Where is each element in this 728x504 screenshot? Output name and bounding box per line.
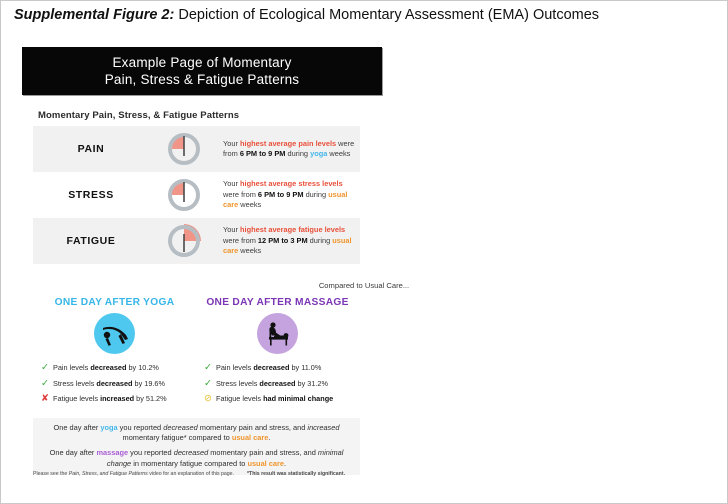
figure-caption-text: Depiction of Ecological Momentary Assess… <box>174 7 599 23</box>
pattern-row-stress: STRESS Your highest average stress level… <box>33 172 360 218</box>
column-title-massage: ONE DAY AFTER MASSAGE <box>196 297 359 308</box>
outcome-columns: ONE DAY AFTER YOGA ✓Pain levels decrease… <box>33 297 360 410</box>
figure-caption-label: Supplemental Figure 2: <box>14 7 174 23</box>
footer-video-title: Pain, Stress, and Fatigue Patterns <box>69 471 148 477</box>
sum-a: One day after <box>50 448 97 457</box>
dial-wrap-pain <box>149 129 219 169</box>
footer-video-note: Please see the Pain, Stress, and Fatigue… <box>33 470 234 478</box>
no-change-icon: ⊘ <box>204 394 216 403</box>
sum-e: . <box>284 459 286 468</box>
list-item-text: Fatigue levels had minimal change <box>216 394 333 404</box>
msg-arm: yoga <box>310 149 327 158</box>
item-bold: decreased <box>90 363 126 372</box>
yoga-pose-glyph <box>99 318 131 350</box>
msg-post: weeks <box>238 246 261 255</box>
msg-pre: Your <box>223 179 240 188</box>
banner-line-2: Pain, Stress & Fatigue Patterns <box>105 71 300 88</box>
pattern-label-stress: STRESS <box>33 189 149 201</box>
sum-uc: usual care <box>232 433 269 442</box>
item-post: by 19.6% <box>133 379 165 388</box>
msg-mid: were from <box>223 236 258 245</box>
compared-to-label: Compared to Usual Care... <box>0 281 728 290</box>
list-item: ✓Pain levels decreased by 11.0% <box>204 363 359 373</box>
msg-during: during <box>304 190 329 199</box>
cross-icon: ✘ <box>41 394 53 403</box>
msg-time: 6 PM to 9 PM <box>258 190 304 199</box>
dial-wrap-fatigue <box>149 221 219 261</box>
pattern-rows: PAIN Your highest average pain levels we… <box>33 126 360 264</box>
sum-c: momentary pain and stress, and <box>208 448 318 457</box>
item-post: by 10.2% <box>126 363 158 372</box>
check-icon: ✓ <box>41 363 53 372</box>
massage-table-glyph <box>262 318 294 350</box>
section-heading: Momentary Pain, Stress, & Fatigue Patter… <box>38 110 239 121</box>
item-post: by 31.2% <box>296 379 328 388</box>
list-item: ✓Pain levels decreased by 10.2% <box>41 363 196 373</box>
list-item-text: Stress levels decreased by 31.2% <box>216 379 328 389</box>
msg-post: weeks <box>238 200 261 209</box>
list-item: ✓Stress levels decreased by 19.6% <box>41 379 196 389</box>
footer-a: Please see the <box>33 471 69 477</box>
pattern-row-pain: PAIN Your highest average pain levels we… <box>33 126 360 172</box>
pattern-row-fatigue: FATIGUE Your highest average fatigue lev… <box>33 218 360 264</box>
pattern-message-fatigue: Your highest average fatigue levels were… <box>219 225 360 256</box>
sum-b: you reported <box>118 423 164 432</box>
pattern-label-pain: PAIN <box>33 143 149 155</box>
list-item-text: Pain levels decreased by 11.0% <box>216 363 321 373</box>
sum-e: . <box>268 433 270 442</box>
item-pre: Stress levels <box>216 379 259 388</box>
massage-table-icon <box>257 313 298 354</box>
banner-line-1: Example Page of Momentary <box>112 54 291 71</box>
check-icon: ✓ <box>41 379 53 388</box>
footer-b: video for an explanation of this page. <box>148 471 234 477</box>
summary-paragraph-yoga: One day after yoga you reported decrease… <box>41 423 352 443</box>
sum-arm-yoga: yoga <box>100 423 117 432</box>
list-item-text: Stress levels decreased by 19.6% <box>53 379 165 389</box>
item-post: by 11.0% <box>289 363 321 372</box>
msg-mid: were from <box>223 190 258 199</box>
sum-a: One day after <box>54 423 101 432</box>
item-bold: decreased <box>259 379 295 388</box>
pattern-message-stress: Your highest average stress levels were … <box>219 179 360 210</box>
msg-during: during <box>308 236 333 245</box>
column-title-yoga: ONE DAY AFTER YOGA <box>33 297 196 308</box>
list-item-text: Fatigue levels increased by 51.2% <box>53 394 167 404</box>
item-pre: Pain levels <box>216 363 253 372</box>
summary-box: One day after yoga you reported decrease… <box>33 418 360 475</box>
item-pre: Stress levels <box>53 379 96 388</box>
clock-dial-icon <box>164 221 204 261</box>
item-bold: decreased <box>96 379 132 388</box>
sum-arm-massage: massage <box>96 448 128 457</box>
footer-significance-note: *This result was statistically significa… <box>247 470 345 478</box>
yoga-pose-icon <box>94 313 135 354</box>
msg-highlight: highest average pain levels <box>240 139 336 148</box>
check-icon: ✓ <box>204 363 216 372</box>
msg-post: weeks <box>327 149 350 158</box>
item-pre: Fatigue levels <box>53 394 100 403</box>
outcome-list-yoga: ✓Pain levels decreased by 10.2% ✓Stress … <box>33 363 196 404</box>
msg-highlight: highest average fatigue levels <box>240 225 345 234</box>
item-bold: decreased <box>253 363 289 372</box>
list-item-text: Pain levels decreased by 10.2% <box>53 363 159 373</box>
figure-caption: Supplemental Figure 2: Depiction of Ecol… <box>14 6 720 24</box>
sum-uc: usual care <box>247 459 284 468</box>
msg-during: during <box>285 149 310 158</box>
item-pre: Pain levels <box>53 363 90 372</box>
msg-time: 6 PM to 9 PM <box>240 149 286 158</box>
clock-dial-icon <box>164 129 204 169</box>
item-post: by 51.2% <box>134 394 166 403</box>
sum-i1: decreased <box>163 423 198 432</box>
list-item: ✘Fatigue levels increased by 51.2% <box>41 394 196 404</box>
sum-d: momentary fatigue* compared to <box>123 433 232 442</box>
pattern-label-fatigue: FATIGUE <box>33 235 149 247</box>
sum-c: momentary pain and stress, and <box>198 423 308 432</box>
msg-highlight: highest average stress levels <box>240 179 343 188</box>
list-item: ⊘Fatigue levels had minimal change <box>204 394 359 404</box>
page-banner: Example Page of Momentary Pain, Stress &… <box>22 47 382 95</box>
msg-pre: Your <box>223 225 240 234</box>
outcome-list-massage: ✓Pain levels decreased by 11.0% ✓Stress … <box>196 363 359 404</box>
dial-wrap-stress <box>149 175 219 215</box>
column-yoga: ONE DAY AFTER YOGA ✓Pain levels decrease… <box>33 297 196 410</box>
item-pre: Fatigue levels <box>216 394 263 403</box>
pattern-message-pain: Your highest average pain levels were fr… <box>219 139 360 160</box>
clock-dial-icon <box>164 175 204 215</box>
sum-d: in momentary fatigue compared to <box>131 459 247 468</box>
sum-i2: increased <box>307 423 339 432</box>
list-item: ✓Stress levels decreased by 31.2% <box>204 379 359 389</box>
msg-time: 12 PM to 3 PM <box>258 236 308 245</box>
sum-i1: decreased <box>174 448 209 457</box>
item-bold: increased <box>100 394 134 403</box>
msg-pre: Your <box>223 139 240 148</box>
summary-paragraph-massage: One day after massage you reported decre… <box>41 448 352 468</box>
sum-b: you reported <box>128 448 174 457</box>
column-massage: ONE DAY AFTER MASSAGE ✓Pain levels decre… <box>196 297 359 410</box>
check-icon: ✓ <box>204 379 216 388</box>
item-bold: had minimal change <box>263 394 333 403</box>
